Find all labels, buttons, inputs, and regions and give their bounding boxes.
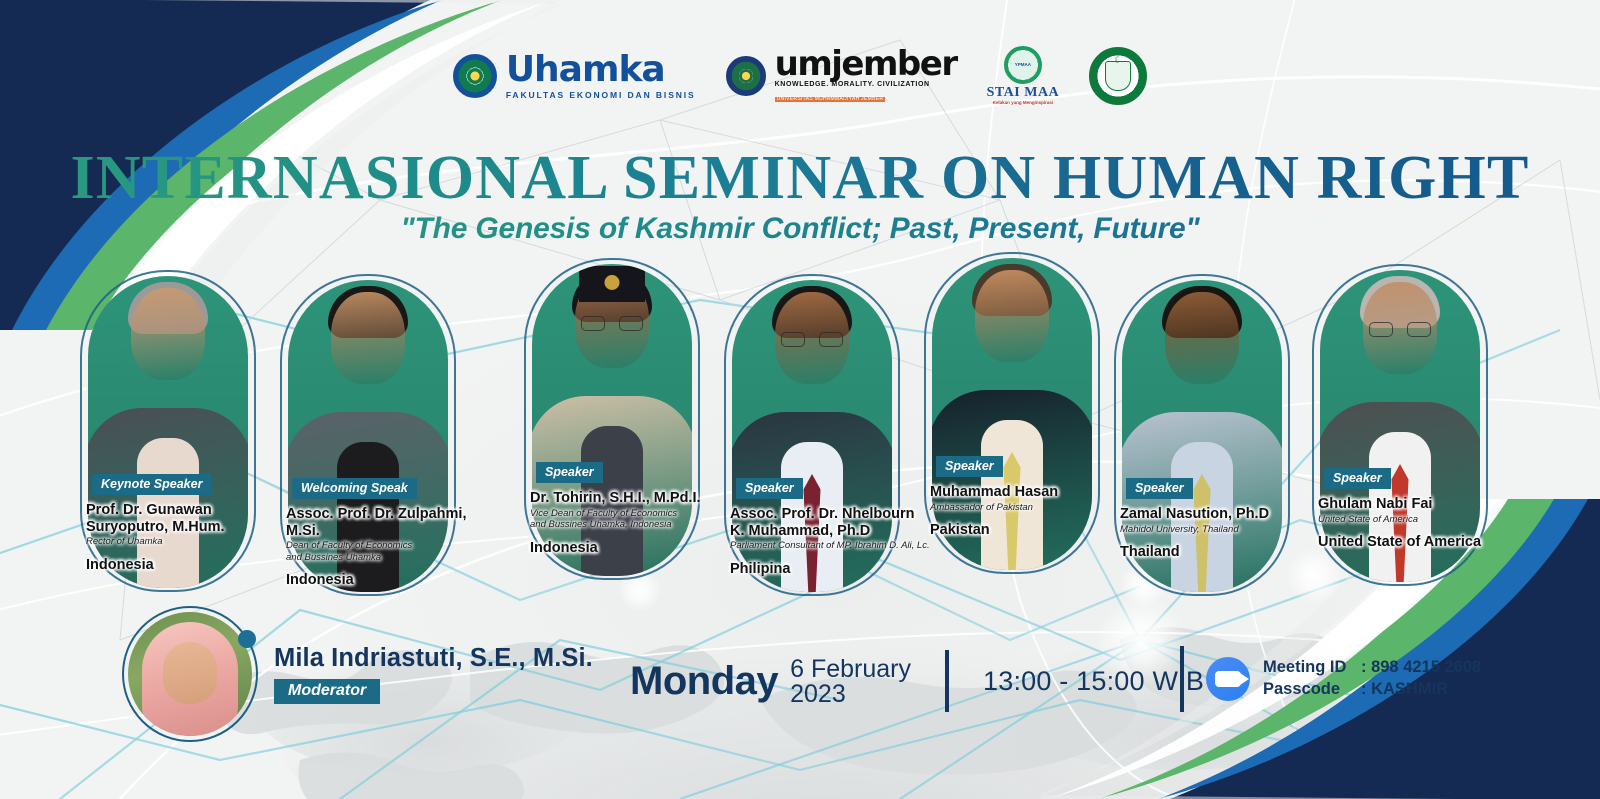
speaker-info: Assoc. Prof. Dr. Nhelbourn K. Muhammad, … [730, 506, 930, 577]
zoom-meeting-id-value: : 898 4215 2608 [1361, 657, 1481, 679]
speaker-role-badge: Speaker [736, 478, 803, 499]
umjember-tagline: KNOWLEDGE. MORALITY. CIVILIZATION [775, 81, 957, 88]
speaker-role-badge: Welcoming Speak [292, 478, 417, 499]
zoom-divider [1180, 646, 1184, 712]
zoom-meeting-block: Meeting ID : 898 4215 2608 Passcode : KA… [1180, 646, 1481, 712]
speaker-name: Zamal Nasution, Ph.D [1120, 506, 1320, 523]
umjember-tagline-secondary: UNIVERSITAS MUHAMMADIYAH JEMBER [775, 97, 886, 102]
umjember-seal-icon [726, 56, 766, 96]
speaker-card: SpeakerZamal Nasution, Ph.DMahidol Unive… [1122, 280, 1282, 592]
speaker-role: United State of America [1318, 514, 1518, 526]
event-date: 6 February 2023 [790, 655, 911, 708]
speaker-name: Prof. Dr. Gunawan Suryoputro, M.Hum. [86, 502, 286, 535]
uhamka-seal-icon [453, 54, 497, 98]
speaker-role-badge: Speaker [936, 456, 1003, 477]
uhamka-wordmark: Uhamka [506, 52, 696, 88]
uhamka-logo: Uhamka FAKULTAS EKONOMI DAN BISNIS [453, 52, 696, 100]
stai-maa-seal-icon [1004, 46, 1042, 84]
speaker-role: Vice Dean of Faculty of Economicsand Bus… [530, 508, 730, 531]
zoom-camera-icon [1206, 657, 1250, 701]
pakistan-shield-icon [1105, 61, 1131, 91]
datetime-divider [945, 650, 949, 712]
zoom-meeting-id-label: Meeting ID [1263, 657, 1361, 679]
speaker-info: Dr. Tohirin, S.H.I., M.Pd.I.Vice Dean of… [530, 490, 730, 556]
stai-maa-wordmark: STAI MAA [987, 86, 1060, 100]
speaker-role: Parliament Consultant of MP. Ibrahim D. … [730, 540, 930, 552]
speaker-country: Thailand [1120, 544, 1320, 560]
speaker-role-badge: Speaker [1126, 478, 1193, 499]
speaker-info: Prof. Dr. Gunawan Suryoputro, M.Hum.Rect… [86, 502, 286, 573]
moderator-badge: Moderator [274, 679, 380, 704]
pakistan-emblem-icon [1089, 47, 1147, 105]
stai-maa-tagline: Kelakan yang Menginspirasi [987, 101, 1060, 106]
speaker-country: Philipina [730, 561, 930, 577]
page-title: INTERNASIONAL SEMINAR ON HUMAN RIGHT [0, 143, 1600, 214]
speaker-card: SpeakerGhulam Nabi FaiUnited State of Am… [1320, 270, 1480, 582]
speaker-card-row: Keynote SpeakerProf. Dr. Gunawan Suryopu… [0, 258, 1600, 574]
zoom-meeting-id-row: Meeting ID : 898 4215 2608 [1263, 657, 1481, 679]
speaker-info: Assoc. Prof. Dr. Zulpahmi, M.Si.Dean of … [286, 506, 486, 588]
zoom-passcode-row: Passcode : KASHMIR [1263, 679, 1481, 701]
speaker-role-badge: Speaker [1324, 468, 1391, 489]
speaker-info: Zamal Nasution, Ph.DMahidol University, … [1120, 506, 1320, 560]
stai-maa-logo: STAI MAA Kelakan yang Menginspirasi [987, 46, 1060, 106]
speaker-name: Ghulam Nabi Fai [1318, 496, 1518, 513]
zoom-camera-glyph [1215, 671, 1241, 687]
uhamka-tagline: FAKULTAS EKONOMI DAN BISNIS [506, 91, 696, 100]
speaker-card: Keynote SpeakerProf. Dr. Gunawan Suryopu… [88, 276, 248, 588]
speaker-country: United State of America [1318, 534, 1518, 550]
speaker-role: Dean of Faculty of Economicsand Bussines… [286, 540, 486, 563]
speaker-card: SpeakerMuhammad HasanAmbassador of Pakis… [932, 258, 1092, 570]
event-day: Monday [630, 659, 778, 704]
seminar-poster: Uhamka FAKULTAS EKONOMI DAN BISNIS umjem… [0, 0, 1600, 799]
speaker-info: Ghulam Nabi FaiUnited State of AmericaUn… [1318, 496, 1518, 550]
speaker-country: Indonesia [530, 540, 730, 556]
event-date-line2: 2023 [790, 682, 911, 708]
partner-logos: Uhamka FAKULTAS EKONOMI DAN BISNIS umjem… [0, 46, 1600, 106]
speaker-role-badge: Keynote Speaker [92, 474, 211, 495]
moderator-avatar [128, 612, 252, 736]
speaker-country: Indonesia [286, 572, 486, 588]
speaker-name: Assoc. Prof. Dr. Nhelbourn K. Muhammad, … [730, 506, 930, 539]
moderator-block: Mila Indriastuti, S.E., M.Si. Moderator [128, 612, 593, 736]
speaker-card: SpeakerDr. Tohirin, S.H.I., M.Pd.I.Vice … [532, 264, 692, 576]
moderator-photo-ring [122, 606, 258, 742]
page-subtitle: "The Genesis of Kashmir Conflict; Past, … [0, 212, 1600, 246]
speaker-name: Muhammad Hasan [930, 484, 1130, 501]
zoom-passcode-value: : KASHMIR [1361, 679, 1448, 701]
event-date-line1: 6 February [790, 657, 911, 683]
speaker-card: SpeakerAssoc. Prof. Dr. Nhelbourn K. Muh… [732, 280, 892, 592]
speaker-country: Indonesia [86, 557, 286, 573]
speaker-info: Muhammad HasanAmbassador of PakistanPaki… [930, 484, 1130, 538]
speaker-name: Assoc. Prof. Dr. Zulpahmi, M.Si. [286, 506, 486, 539]
zoom-passcode-label: Passcode [1263, 679, 1361, 701]
event-time: 13:00 - 15:00 WIB [983, 666, 1204, 697]
umjember-wordmark: umjember [775, 48, 957, 80]
speaker-country: Pakistan [930, 522, 1130, 538]
speaker-name: Dr. Tohirin, S.H.I., M.Pd.I. [530, 490, 730, 507]
event-datetime: Monday 6 February 2023 13:00 - 15:00 WIB [630, 650, 1204, 712]
speaker-role: Mahidol University, Thailand [1120, 524, 1320, 536]
umjember-logo: umjember KNOWLEDGE. MORALITY. CIVILIZATI… [726, 48, 957, 104]
speaker-role: Ambassador of Pakistan [930, 502, 1130, 514]
speaker-role-badge: Speaker [536, 462, 603, 483]
speaker-card: Welcoming SpeakAssoc. Prof. Dr. Zulpahmi… [288, 280, 448, 592]
moderator-accent-dot [238, 630, 256, 648]
speaker-role: Rector of Uhamka [86, 536, 286, 548]
moderator-name: Mila Indriastuti, S.E., M.Si. [274, 644, 593, 673]
